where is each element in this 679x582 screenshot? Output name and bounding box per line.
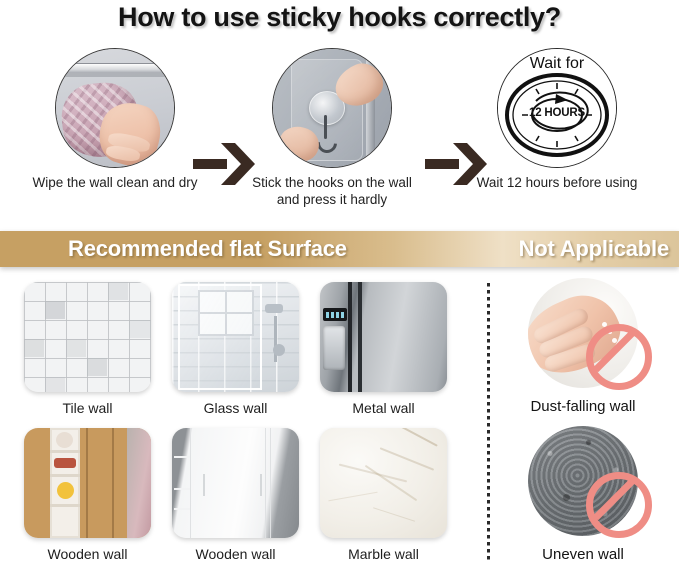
banner-recommended-label: Recommended flat Surface: [68, 236, 347, 262]
recommended-surfaces-grid: Tile wall Glass wall: [0, 276, 487, 582]
surface-label-metal: Metal wall: [314, 400, 453, 416]
surface-card-tile: Tile wall: [18, 282, 157, 416]
surface-thumb-wooden-2: [172, 428, 299, 538]
clock-icon: Wait for 12 HOURS: [498, 49, 616, 167]
step-wipe-image: [55, 48, 175, 168]
toy-icon: [57, 482, 74, 499]
surface-label-wooden-2: Wooden wall: [166, 546, 305, 562]
surface-card-marble: Marble wall: [314, 428, 453, 562]
step-stick-image: [272, 48, 392, 168]
surface-card-wooden-2: Wooden wall: [166, 428, 305, 562]
shower-control-icon: [273, 344, 285, 356]
prohibited-sign-icon: [586, 472, 652, 538]
page-title: How to use sticky hooks correctly?: [0, 2, 679, 33]
wall-rail: [55, 63, 175, 73]
wooden-wall-texture: [24, 428, 151, 538]
clock-top-label: Wait for: [498, 55, 616, 73]
step-wait-image: Wait for 12 HOURS: [497, 48, 617, 168]
surface-card-metal: Metal wall: [314, 282, 453, 416]
surface-thumb-tile: [24, 282, 151, 392]
surface-label-wooden-1: Wooden wall: [18, 546, 157, 562]
toy-icon: [54, 458, 76, 468]
metal-wall-texture: [320, 282, 447, 392]
surface-label-glass: Glass wall: [166, 400, 305, 416]
surface-thumb-metal: [320, 282, 447, 392]
prohibited-sign-icon: [586, 324, 652, 390]
infographic-page: How to use sticky hooks correctly? Wipe …: [0, 0, 679, 582]
section-banner: Recommended flat Surface Not Applicable: [0, 231, 679, 267]
door-handle-icon: [260, 474, 262, 496]
step-wipe: Wipe the wall clean and dry: [55, 48, 175, 168]
surface-label-uneven: Uneven wall: [487, 546, 679, 563]
surface-label-tile: Tile wall: [18, 400, 157, 416]
door-handle-icon: [203, 474, 205, 496]
clock-center-label: 12 HOURS: [498, 107, 616, 119]
showerhead-icon: [265, 304, 283, 313]
surface-thumb-glass: [172, 282, 299, 392]
step-stick: Stick the hooks on the wall and press it…: [272, 48, 392, 168]
step-wait-caption: Wait 12 hours before using: [432, 174, 679, 191]
surface-label-marble: Marble wall: [314, 546, 453, 562]
glass-door: [178, 284, 262, 390]
banner-not-applicable-label: Not Applicable: [519, 236, 669, 262]
surface-thumb-marble: [320, 428, 447, 538]
surface-card-wooden-1: Wooden wall: [18, 428, 157, 562]
marble-wall-texture: [320, 428, 447, 538]
wall-rail-shadow: [55, 73, 175, 77]
surface-thumb-wooden-1: [24, 428, 151, 538]
surface-card-uneven: Uneven wall: [487, 426, 679, 563]
water-dispenser-icon: [323, 326, 345, 370]
surface-card-dust-falling: Dust-falling wall: [487, 278, 679, 415]
surface-label-dust-falling: Dust-falling wall: [487, 398, 679, 415]
not-applicable-column: Dust-falling wall Uneven wall: [487, 276, 679, 582]
step-stick-caption: Stick the hooks on the wall and press it…: [217, 174, 447, 208]
toy-icon: [56, 432, 73, 448]
fridge-display-icon: [323, 308, 347, 321]
white-wardrobe-texture: [172, 428, 299, 538]
surface-card-glass: Glass wall: [166, 282, 305, 416]
tile-wall-texture: [24, 282, 151, 392]
step-wait: Wait for 12 HOURS Wait 12 hours before u…: [497, 48, 617, 168]
glass-wall-texture: [172, 282, 299, 392]
steps-section: Wipe the wall clean and dry Stick the ho…: [0, 48, 679, 218]
